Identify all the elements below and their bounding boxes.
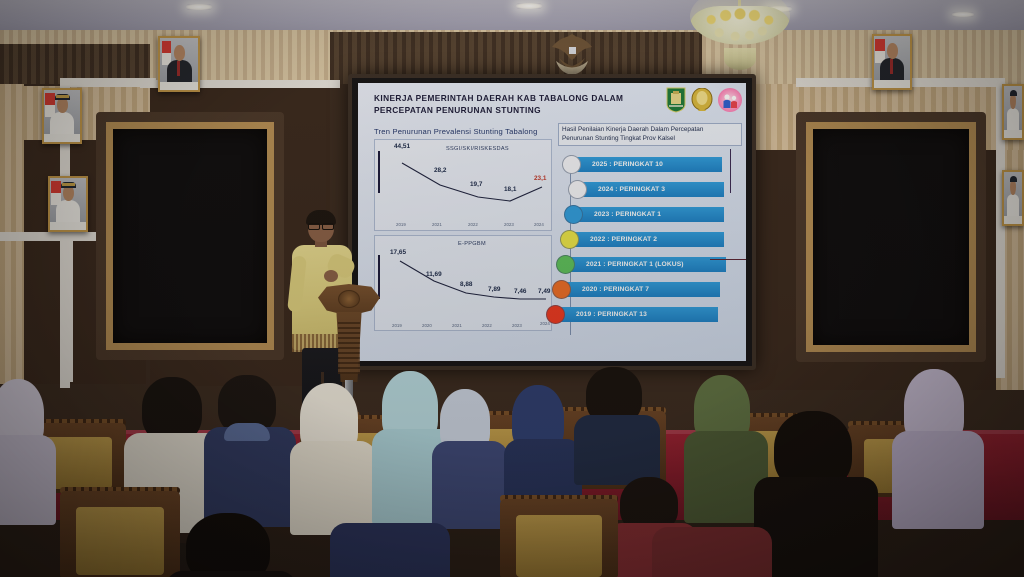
portrait-frame-president — [158, 36, 200, 92]
chart-eppgbm-point-label: 17,65 — [390, 249, 406, 256]
speaker-gesturing-hand — [324, 270, 338, 282]
chart-ssgi-point-label: 44,51 — [394, 143, 410, 150]
ranking-bar: 2024 : PERINGKAT 3 — [582, 182, 724, 197]
chart-ssgi-point-label: 28,2 — [434, 167, 446, 174]
chandelier-drop — [724, 48, 756, 70]
ranking-header: Hasil Penilaian Kinerja Daerah Dalam Per… — [558, 123, 742, 146]
portrait-frame-official-2 — [48, 176, 88, 232]
ranking-dot-2022 — [560, 230, 579, 249]
ceiling-light — [516, 3, 542, 9]
chart-ssgi-x-tick: 2022 — [468, 222, 478, 227]
chart-ssgi-point-label: 23,1 — [534, 175, 546, 182]
ranking-label: 2022 : PERINGKAT 2 — [574, 236, 657, 243]
tabalong-smart-logo-icon — [690, 88, 714, 112]
presentation-screen: KINERJA PEMERINTAH DAERAH KAB TABALONG D… — [348, 74, 756, 370]
audience-torso — [754, 477, 878, 577]
ranking-bar: 2022 : PERINGKAT 2 — [574, 232, 724, 247]
portrait-frame-vice-president — [872, 34, 912, 90]
ranking-header-line-2: Penurunan Stunting Tingkat Prov Kalsel — [562, 135, 738, 144]
chart-eppgbm-x-tick: 2023 — [512, 323, 522, 328]
audience-area — [0, 367, 1024, 577]
slide-logo-group — [666, 87, 742, 113]
ranking-bar: 2023 : PERINGKAT 1 — [578, 207, 724, 222]
garuda-pancasila-emblem — [545, 28, 599, 78]
ranking-row-2024: 2024 : PERINGKAT 3 — [568, 182, 728, 197]
chart-ssgi-line — [374, 139, 552, 231]
ranking-label: 2020 : PERINGKAT 7 — [566, 286, 649, 293]
ceiling-light — [186, 4, 212, 10]
chart-ssgi-x-tick: 2023 — [504, 222, 514, 227]
chart-ssgi-x-tick: 2024 — [534, 222, 544, 227]
ranking-header-line-1: Hasil Penilaian Kinerja Daerah Dalam Per… — [562, 126, 738, 135]
ranking-row-2019: 2019 : PERINGKAT 13 — [546, 307, 714, 322]
ranking-label: 2025 : PERINGKAT 10 — [576, 161, 663, 168]
speaker-glasses-icon — [308, 223, 334, 228]
slide-title: KINERJA PEMERINTAH DAERAH KAB TABALONG D… — [374, 92, 624, 116]
slide-accent-horizontal — [710, 259, 746, 260]
ranking-row-2020: 2020 : PERINGKAT 7 — [552, 282, 718, 297]
ranking-bar: 2025 : PERINGKAT 10 — [576, 157, 722, 172]
portrait-frame-official-3 — [1002, 84, 1024, 140]
ranking-label: 2021 : PERINGKAT 1 (LOKUS) — [570, 261, 684, 268]
portrait-frame-official-1 — [42, 88, 82, 144]
portrait-frame-official-4 — [1002, 170, 1024, 226]
ranking-bar: 2019 : PERINGKAT 13 — [560, 307, 718, 322]
chandelier — [690, 0, 790, 80]
chart-eppgbm-point-label: 11,69 — [426, 271, 442, 278]
ranking-row-2025: 2025 : PERINGKAT 10 — [562, 157, 722, 172]
wall-trim-left-lower — [0, 232, 104, 241]
ranking-label: 2024 : PERINGKAT 3 — [582, 186, 665, 193]
chart-ssgi-x-tick: 2021 — [432, 222, 442, 227]
audience-collar — [224, 423, 270, 441]
ranking-row-2021: 2021 : PERINGKAT 1 (LOKUS) — [556, 257, 724, 272]
chair-seat-foreground — [76, 507, 164, 575]
audience-torso — [166, 571, 296, 577]
chart-eppgbm-x-tick: 2021 — [452, 323, 462, 328]
audience-torso — [330, 523, 450, 577]
tabalong-regency-crest-icon — [666, 87, 686, 113]
ranking-dot-2021 — [556, 255, 575, 274]
chart-eppgbm-x-tick: 2022 — [482, 323, 492, 328]
audience-torso — [652, 527, 772, 577]
chart-eppgbm-point-label: 8,88 — [460, 281, 472, 288]
audience-torso — [432, 441, 508, 529]
wall-trim-left-post — [64, 232, 73, 382]
ranking-bar: 2021 : PERINGKAT 1 (LOKUS) — [570, 257, 726, 272]
ranking-dot-2023 — [564, 205, 583, 224]
ranking-dot-2019 — [546, 305, 565, 324]
ranking-dot-2020 — [552, 280, 571, 299]
chair-seat-foreground — [516, 515, 602, 577]
podium-carving — [338, 320, 360, 374]
chart-eppgbm-point-label: 7,49 — [538, 288, 550, 295]
audience-torso — [574, 415, 660, 485]
slide-accent-vertical — [730, 149, 731, 193]
ranking-dot-2025 — [562, 155, 581, 174]
audience-torso — [204, 427, 296, 527]
audience-torso — [892, 431, 984, 529]
chart-eppgbm-point-label: 7,89 — [488, 286, 500, 293]
audience-torso — [290, 441, 376, 535]
audience-torso — [0, 435, 56, 525]
ranking-dot-2024 — [568, 180, 587, 199]
slide-title-line-2: PERCEPATAN PENURUNAN STUNTING — [374, 104, 624, 116]
chart-section-label: Tren Penurunan Prevalensi Stunting Tabal… — [374, 127, 538, 136]
ranking-row-2022: 2022 : PERINGKAT 2 — [560, 232, 720, 247]
podium-emblem — [338, 290, 360, 308]
display-panel-right — [806, 122, 976, 352]
chart-ssgi-point-label: 18,1 — [504, 186, 516, 193]
ranking-label: 2023 : PERINGKAT 1 — [578, 211, 661, 218]
ceiling-light — [952, 12, 974, 17]
slide-content: KINERJA PEMERINTAH DAERAH KAB TABALONG D… — [358, 83, 746, 361]
auditorium-scene: KINERJA PEMERINTAH DAERAH KAB TABALONG D… — [0, 0, 1024, 577]
ranking-row-2023: 2023 : PERINGKAT 1 — [564, 207, 724, 222]
chart-eppgbm-point-label: 7,46 — [514, 288, 526, 295]
chart-ssgi-point-label: 19,7 — [470, 181, 482, 188]
chart-eppgbm-x-tick: 2020 — [422, 323, 432, 328]
slide-title-line-1: KINERJA PEMERINTAH DAERAH KAB TABALONG D… — [374, 92, 624, 104]
stunting-program-icon — [718, 88, 742, 112]
chart-ssgi-x-tick: 2019 — [396, 222, 406, 227]
audience-head — [186, 513, 270, 577]
chart-eppgbm-x-tick: 2019 — [392, 323, 402, 328]
ceiling — [0, 0, 1024, 34]
ranking-label: 2019 : PERINGKAT 13 — [560, 311, 647, 318]
display-panel-left — [106, 122, 274, 350]
ranking-bar: 2020 : PERINGKAT 7 — [566, 282, 720, 297]
